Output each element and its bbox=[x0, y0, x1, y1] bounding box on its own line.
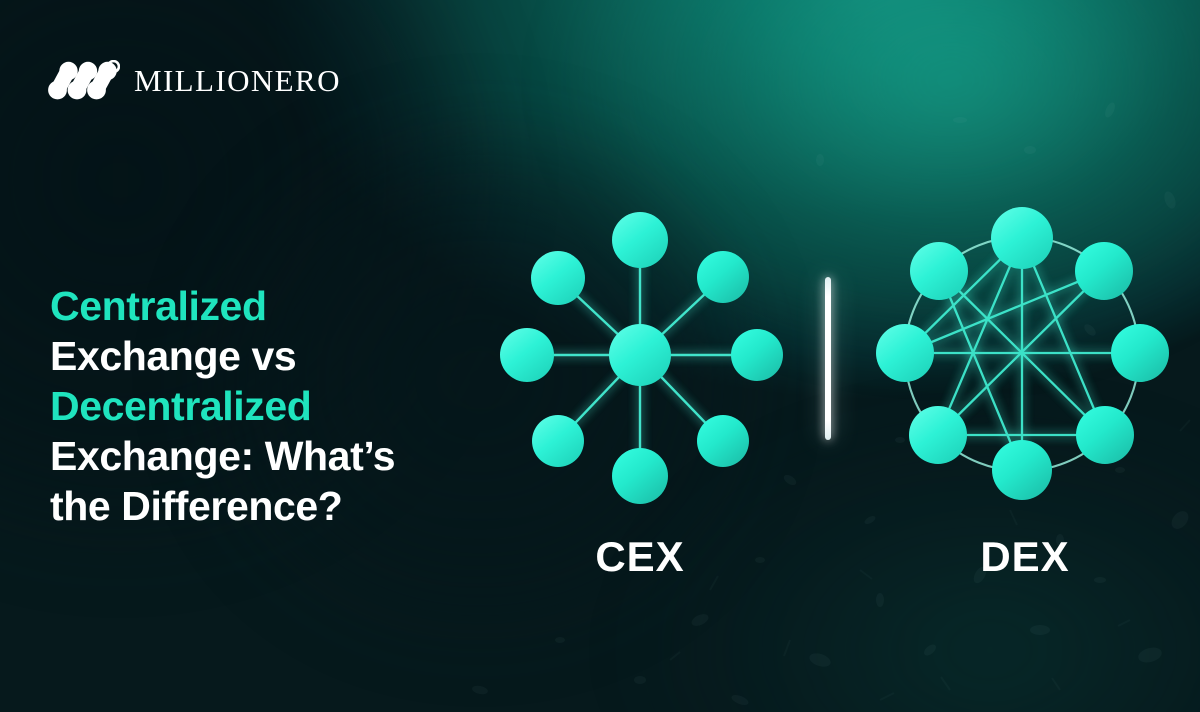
dex-node bbox=[1111, 324, 1169, 382]
cex-network-diagram bbox=[500, 212, 783, 504]
dex-node bbox=[991, 207, 1053, 269]
background-glow-top bbox=[560, 0, 1200, 360]
headline-line-5: the Difference? bbox=[50, 481, 530, 531]
cex-node bbox=[531, 251, 585, 305]
dex-node bbox=[876, 324, 934, 382]
cex-edge bbox=[640, 355, 723, 441]
cex-hub-node bbox=[609, 324, 671, 386]
dex-chord bbox=[938, 271, 1104, 435]
dex-node bbox=[909, 406, 967, 464]
cex-node bbox=[612, 448, 668, 504]
cex-caption: CEX bbox=[540, 533, 740, 581]
cex-node bbox=[731, 329, 783, 381]
vertical-divider bbox=[825, 277, 831, 440]
dex-chord bbox=[905, 238, 1022, 353]
hero-banner: MILLIONERO Centralized Exchange vs Decen… bbox=[0, 0, 1200, 712]
cex-edge bbox=[558, 355, 640, 441]
brand-name: MILLIONERO bbox=[134, 63, 341, 99]
dex-ring-edge bbox=[905, 237, 1139, 471]
dex-network-diagram bbox=[876, 207, 1169, 500]
dex-node bbox=[910, 242, 968, 300]
headline-line-4: Exchange: What’s bbox=[50, 431, 530, 481]
cex-edge bbox=[558, 278, 640, 355]
dex-chord bbox=[938, 238, 1022, 435]
dex-chord bbox=[1022, 238, 1105, 435]
cex-node bbox=[697, 251, 749, 303]
brand-logo[interactable]: MILLIONERO bbox=[48, 60, 341, 102]
dex-chord bbox=[939, 271, 1105, 435]
page-title: Centralized Exchange vs Decentralized Ex… bbox=[50, 281, 530, 531]
headline-line-3: Decentralized bbox=[50, 381, 530, 431]
headline-line-1: Centralized bbox=[50, 281, 530, 331]
dex-node bbox=[992, 440, 1052, 500]
dex-node bbox=[1076, 406, 1134, 464]
dex-caption: DEX bbox=[925, 533, 1125, 581]
cex-node bbox=[612, 212, 668, 268]
dex-chord bbox=[939, 271, 1022, 470]
cex-node bbox=[532, 415, 584, 467]
headline-line-2: Exchange vs bbox=[50, 331, 530, 381]
millionero-nodes-logo-icon bbox=[48, 60, 120, 102]
cex-node bbox=[697, 415, 749, 467]
dex-node bbox=[1075, 242, 1133, 300]
cex-edge bbox=[640, 277, 723, 355]
dex-chord bbox=[905, 271, 1104, 353]
